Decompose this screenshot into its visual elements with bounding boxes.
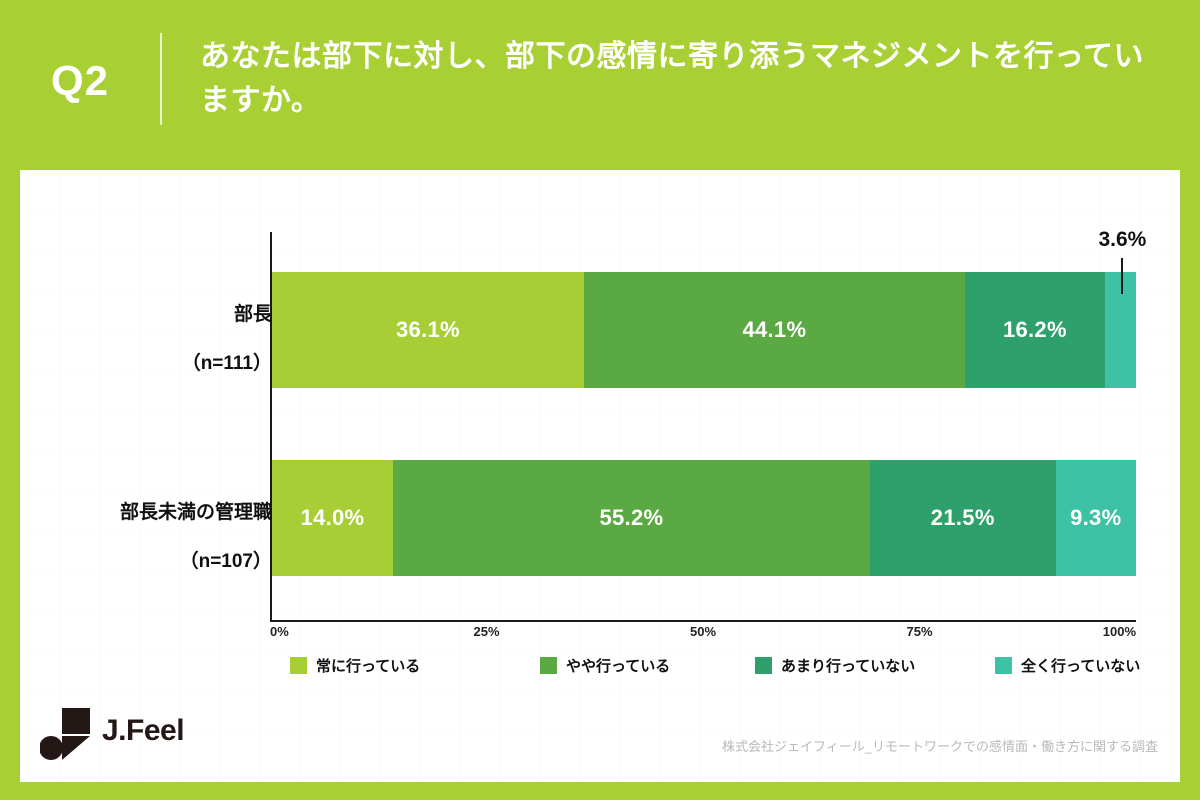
chart-card: 部長 （n=111） 部長未満の管理職 （n=107） 36.1% 44.1% …	[20, 170, 1180, 782]
legend-swatch-0	[290, 657, 307, 674]
annotation-3-6-percent: 3.6%	[922, 228, 1200, 252]
bar-segment-1-3[interactable]: 9.3%	[1056, 460, 1136, 576]
slide-root: Q2 あなたは部下に対し、部下の感情に寄り添うマネジメントを行っていますか。 部…	[0, 0, 1200, 800]
chart-legend: 常に行っている やや行っている あまり行っていない 全く行っていない	[290, 652, 1170, 678]
slide-header: Q2 あなたは部下に対し、部下の感情に寄り添うマネジメントを行っていますか。	[0, 0, 1200, 158]
source-note: 株式会社ジェイフィール_リモートワークでの感情面・働き方に関する調査	[722, 736, 1158, 755]
bar-segment-1-1[interactable]: 55.2%	[393, 460, 870, 576]
legend-label-0: 常に行っている	[316, 655, 420, 676]
legend-swatch-1	[540, 657, 557, 674]
x-tick-2: 50%	[690, 624, 716, 639]
bar-row-0: 36.1% 44.1% 16.2%	[272, 272, 1136, 388]
question-number: Q2	[0, 53, 160, 105]
bar-segment-0-0[interactable]: 36.1%	[272, 272, 584, 388]
legend-swatch-3	[995, 657, 1012, 674]
legend-label-3: 全く行っていない	[1021, 655, 1140, 676]
bar-segment-0-1[interactable]: 44.1%	[584, 272, 965, 388]
category-n-1: （n=107）	[180, 551, 272, 572]
x-tick-3: 75%	[906, 624, 932, 639]
bar-row-1: 14.0% 55.2% 21.5% 9.3%	[272, 460, 1136, 576]
legend-item-2[interactable]: あまり行っていない	[755, 655, 995, 676]
x-tick-0: 0%	[270, 624, 289, 639]
bar-segment-1-0[interactable]: 14.0%	[272, 460, 393, 576]
bar-segment-1-2[interactable]: 21.5%	[870, 460, 1056, 576]
category-name-1: 部長未満の管理職	[120, 502, 272, 523]
category-name-0: 部長	[234, 304, 272, 325]
jfeel-logo-mark-icon	[40, 708, 96, 760]
x-tick-1: 25%	[473, 624, 499, 639]
legend-label-1: やや行っている	[566, 655, 670, 676]
jfeel-logo-text: J.Feel	[102, 714, 184, 748]
category-label-1: 部長未満の管理職 （n=107）	[0, 476, 272, 575]
category-n-0: （n=111）	[182, 353, 272, 374]
legend-item-0[interactable]: 常に行っている	[290, 655, 540, 676]
question-title: あなたは部下に対し、部下の感情に寄り添うマネジメントを行っていますか。	[162, 35, 1200, 124]
x-tick-4: 100%	[1103, 624, 1136, 639]
bar-segment-0-2[interactable]: 16.2%	[965, 272, 1105, 388]
legend-swatch-2	[755, 657, 772, 674]
legend-label-2: あまり行っていない	[781, 655, 915, 676]
legend-item-3[interactable]: 全く行っていない	[995, 655, 1140, 676]
bar-segment-0-3[interactable]	[1105, 272, 1136, 388]
annotation-leader-line	[1121, 258, 1123, 294]
category-label-0: 部長 （n=111）	[0, 278, 272, 377]
jfeel-logo: J.Feel	[40, 702, 240, 764]
x-axis-line	[270, 620, 1136, 622]
card-footer: J.Feel 株式会社ジェイフィール_リモートワークでの感情面・働き方に関する調…	[20, 690, 1180, 782]
legend-item-1[interactable]: やや行っている	[540, 655, 755, 676]
